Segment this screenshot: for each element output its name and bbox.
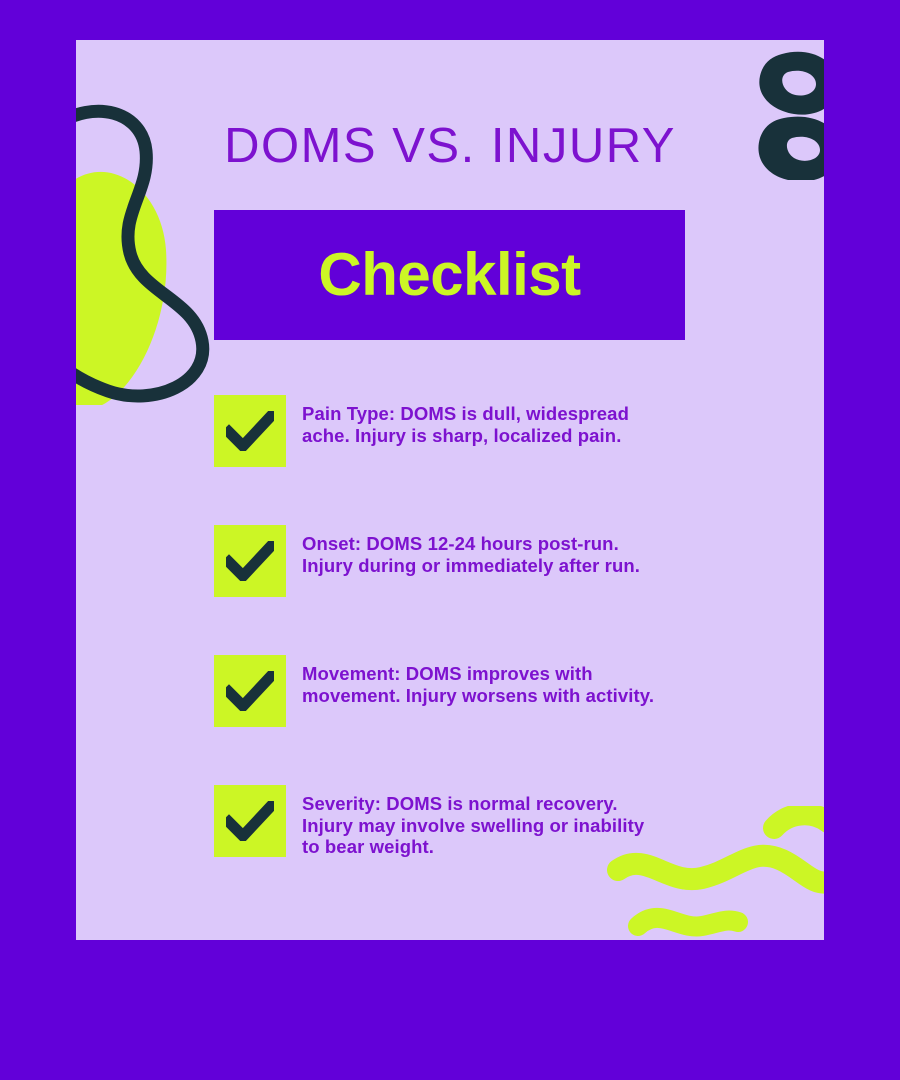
- list-item[interactable]: Onset: DOMS 12-24 hours post-run. Injury…: [214, 525, 796, 597]
- list-item[interactable]: Severity: DOMS is normal recovery. Injur…: [214, 785, 796, 858]
- list-item[interactable]: Movement: DOMS improves with movement. I…: [214, 655, 796, 727]
- checkmark-icon: [226, 411, 274, 451]
- checkbox-checked[interactable]: [214, 655, 286, 727]
- page-title: DOMS VS. INJURY: [76, 118, 824, 174]
- checkmark-icon: [226, 801, 274, 841]
- list-item-text: Pain Type: DOMS is dull, widespread ache…: [302, 395, 629, 446]
- checkbox-checked[interactable]: [214, 395, 286, 467]
- checklist-banner: Checklist: [214, 210, 685, 340]
- list-item-line: to bear weight.: [302, 836, 644, 858]
- list-item-line: Injury during or immediately after run.: [302, 555, 640, 577]
- list-item-line: Severity: DOMS is normal recovery.: [302, 793, 644, 815]
- checkbox-checked[interactable]: [214, 785, 286, 857]
- checkmark-icon: [226, 541, 274, 581]
- list-item-line: ache. Injury is sharp, localized pain.: [302, 425, 629, 447]
- list-item-text: Onset: DOMS 12-24 hours post-run. Injury…: [302, 525, 640, 576]
- list-item-text: Severity: DOMS is normal recovery. Injur…: [302, 785, 644, 858]
- list-item-text: Movement: DOMS improves with movement. I…: [302, 655, 654, 706]
- checklist-section: Pain Type: DOMS is dull, widespread ache…: [214, 395, 796, 858]
- banner-label: Checklist: [318, 245, 580, 305]
- infographic-card: DOMS VS. INJURY Checklist Pain Type: DOM…: [76, 40, 824, 940]
- list-item-line: Pain Type: DOMS is dull, widespread: [302, 403, 629, 425]
- list-item-line: Onset: DOMS 12-24 hours post-run.: [302, 533, 640, 555]
- list-item-line: movement. Injury worsens with activity.: [302, 685, 654, 707]
- list-item-line: Movement: DOMS improves with: [302, 663, 654, 685]
- list-item-line: Injury may involve swelling or inability: [302, 815, 644, 837]
- checkbox-checked[interactable]: [214, 525, 286, 597]
- poster-canvas: DOMS VS. INJURY Checklist Pain Type: DOM…: [0, 0, 900, 1080]
- checkmark-icon: [226, 671, 274, 711]
- list-item[interactable]: Pain Type: DOMS is dull, widespread ache…: [214, 395, 796, 467]
